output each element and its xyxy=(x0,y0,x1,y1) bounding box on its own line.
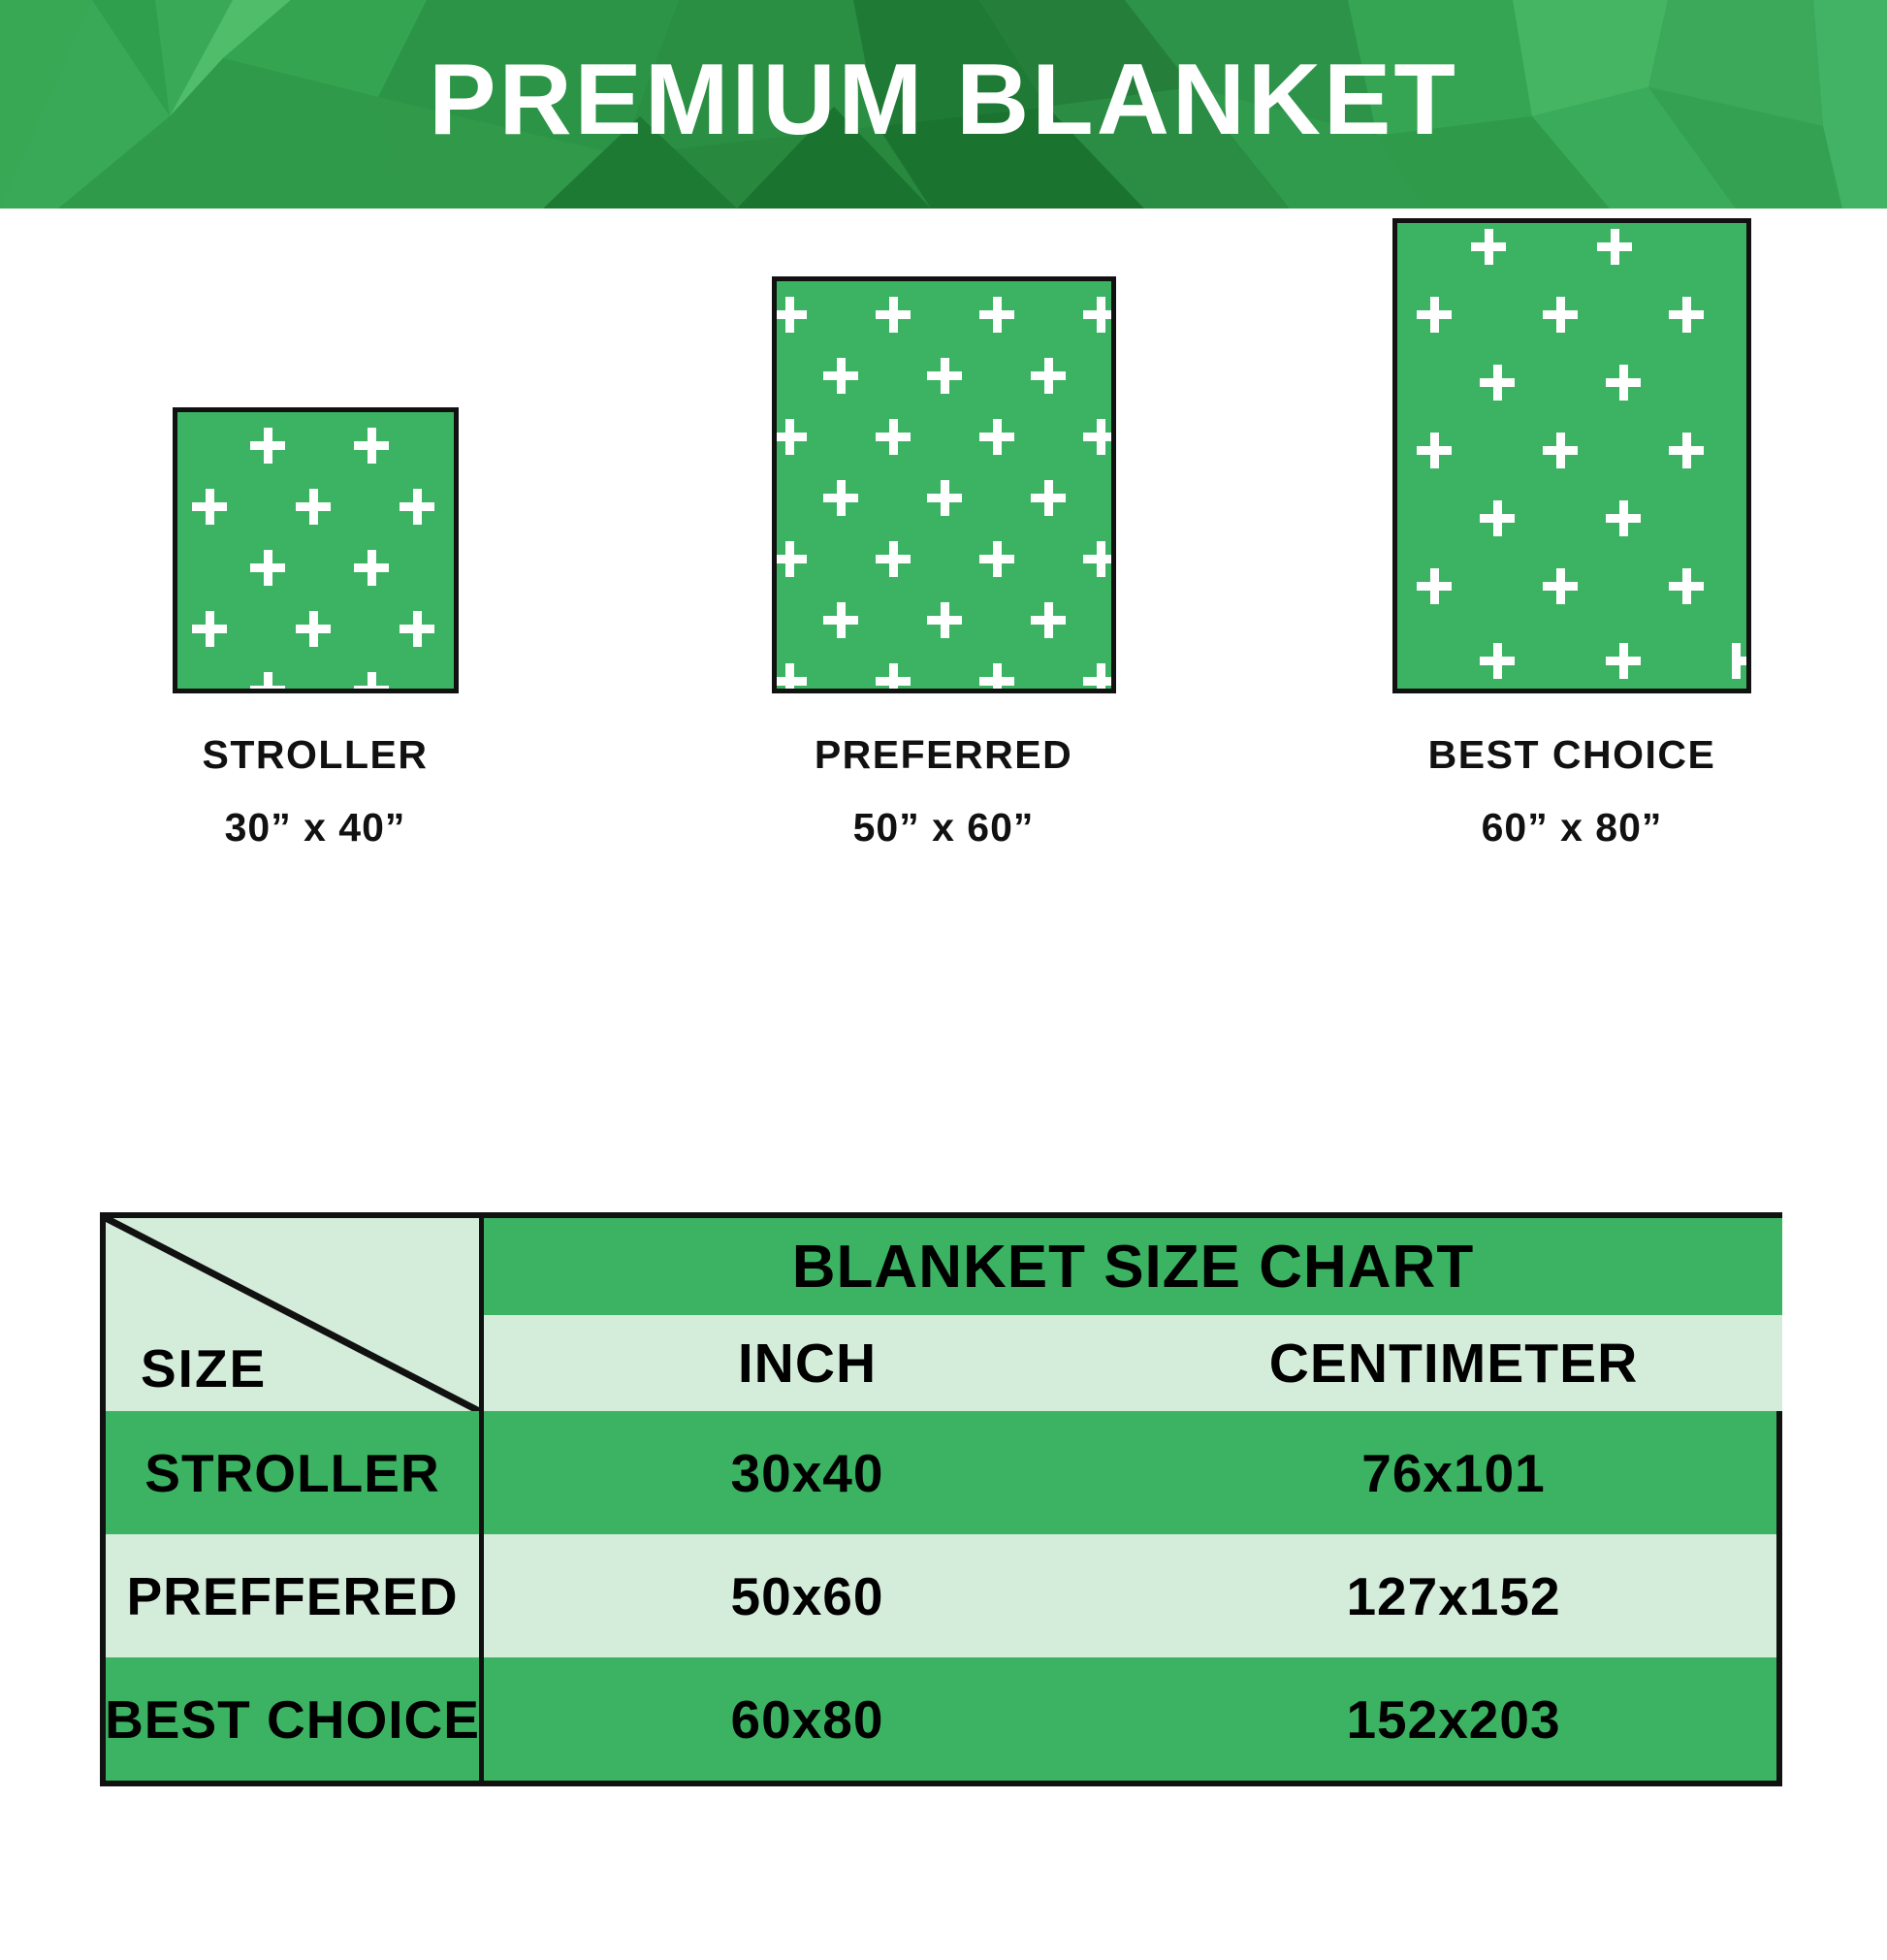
swatch-row: STROLLER 30” x 40” xyxy=(0,407,1887,1106)
swatch-group-preferred: PREFERRED 50” x 60” xyxy=(628,407,1259,851)
table-row: BEST CHOICE 60x80 152x203 xyxy=(106,1657,1782,1781)
blanket-swatch-preferred xyxy=(772,276,1116,693)
blanket-swatch-best-choice xyxy=(1392,218,1751,693)
table-row: STROLLER 30x40 76x101 xyxy=(106,1411,1782,1534)
swatch-label-dimensions: 60” x 80” xyxy=(1257,805,1887,851)
cross-pattern-icon xyxy=(1397,223,1751,693)
header-banner: PREMIUM BLANKET xyxy=(0,0,1887,209)
cell-inch: 50x60 xyxy=(484,1534,1131,1657)
cell-size: STROLLER xyxy=(106,1411,484,1534)
swatch-label-name: STROLLER xyxy=(0,732,630,778)
cell-size: PREFFERED xyxy=(106,1534,484,1657)
cell-centimeter: 127x152 xyxy=(1131,1534,1776,1657)
cell-inch: 30x40 xyxy=(484,1411,1131,1534)
cell-centimeter: 152x203 xyxy=(1131,1657,1776,1781)
swatch-label-dimensions: 50” x 60” xyxy=(628,805,1259,851)
cross-pattern-icon xyxy=(177,412,459,693)
cell-size: BEST CHOICE xyxy=(106,1657,484,1781)
cell-inch: 60x80 xyxy=(484,1657,1131,1781)
table-corner-label: SIZE xyxy=(141,1337,267,1399)
swatch-label-dimensions: 30” x 40” xyxy=(0,805,630,851)
cell-centimeter: 76x101 xyxy=(1131,1411,1776,1534)
table-row: PREFFERED 50x60 127x152 xyxy=(106,1534,1782,1657)
swatch-group-stroller: STROLLER 30” x 40” xyxy=(0,407,630,851)
page-title: PREMIUM BLANKET xyxy=(0,0,1887,209)
swatch-label-name: BEST CHOICE xyxy=(1257,732,1887,778)
swatch-label-name: PREFERRED xyxy=(628,732,1259,778)
swatch-group-best-choice: BEST CHOICE 60” x 80” xyxy=(1257,407,1887,851)
column-header-inch: INCH xyxy=(484,1315,1131,1411)
table-title: BLANKET SIZE CHART xyxy=(792,1233,1474,1301)
table-title-row: BLANKET SIZE CHART xyxy=(484,1218,1782,1315)
table-header-stack: BLANKET SIZE CHART INCH CENTIMETER xyxy=(484,1218,1782,1411)
cross-pattern-icon xyxy=(777,281,1116,693)
column-header-centimeter: CENTIMETER xyxy=(1131,1315,1776,1411)
blanket-size-chart-table: SIZE BLANKET SIZE CHART INCH CENTIMETER … xyxy=(100,1212,1782,1786)
table-corner-cell: SIZE xyxy=(106,1218,484,1411)
blanket-swatch-stroller xyxy=(173,407,459,693)
table-column-header-row: INCH CENTIMETER xyxy=(484,1315,1782,1411)
table-body: STROLLER 30x40 76x101 PREFFERED 50x60 12… xyxy=(106,1411,1782,1781)
